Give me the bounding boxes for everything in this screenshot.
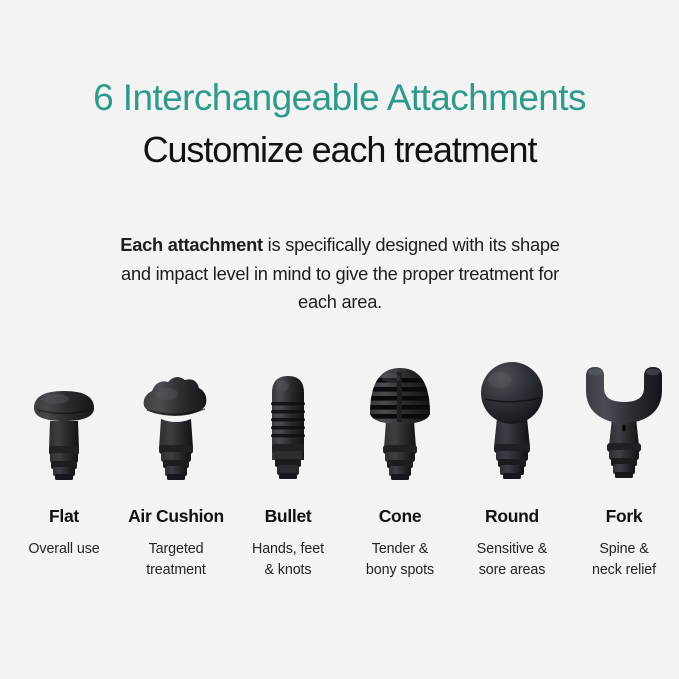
- attachment-card-cone[interactable]: Cone Tender & bony spots: [344, 358, 456, 580]
- attachment-name: Flat: [49, 507, 79, 526]
- page-title: 6 Interchangeable Attachments: [0, 78, 679, 117]
- air-cushion-attachment-icon: [120, 358, 232, 490]
- flat-attachment-icon: [8, 358, 120, 490]
- attachment-card-flat[interactable]: Flat Overall use: [8, 358, 120, 560]
- attachment-description: Overall use: [28, 539, 99, 559]
- attachment-description: Hands, feet & knots: [252, 539, 324, 580]
- attachment-name: Round: [485, 507, 539, 526]
- attachment-name: Fork: [606, 507, 643, 526]
- round-attachment-icon: [456, 358, 568, 490]
- page-subtitle: Customize each treatment: [0, 130, 679, 170]
- fork-attachment-icon: [568, 358, 679, 490]
- attachment-description: Spine & neck relief: [592, 539, 656, 580]
- product-feature-panel: 6 Interchangeable Attachments Customize …: [0, 0, 679, 679]
- attachment-card-bullet[interactable]: Bullet Hands, feet & knots: [232, 358, 344, 580]
- attachment-card-round[interactable]: Round Sensitive & sore areas: [456, 358, 568, 580]
- attachment-name: Air Cushion: [128, 507, 224, 526]
- attachment-grid: Flat Overall use: [8, 358, 671, 580]
- attachment-name: Cone: [379, 507, 422, 526]
- attachment-description: Sensitive & sore areas: [477, 539, 547, 580]
- bullet-attachment-icon: [232, 358, 344, 490]
- intro-paragraph: Each attachment is specifically designed…: [104, 231, 576, 317]
- attachment-card-air-cushion[interactable]: Air Cushion Targeted treatment: [120, 358, 232, 580]
- attachment-card-fork[interactable]: Fork Spine & neck relief: [568, 358, 679, 580]
- attachment-name: Bullet: [265, 507, 312, 526]
- attachment-description: Tender & bony spots: [366, 539, 434, 580]
- attachment-description: Targeted treatment: [146, 539, 206, 580]
- cone-attachment-icon: [344, 358, 456, 490]
- intro-lead-text: Each attachment: [120, 234, 263, 255]
